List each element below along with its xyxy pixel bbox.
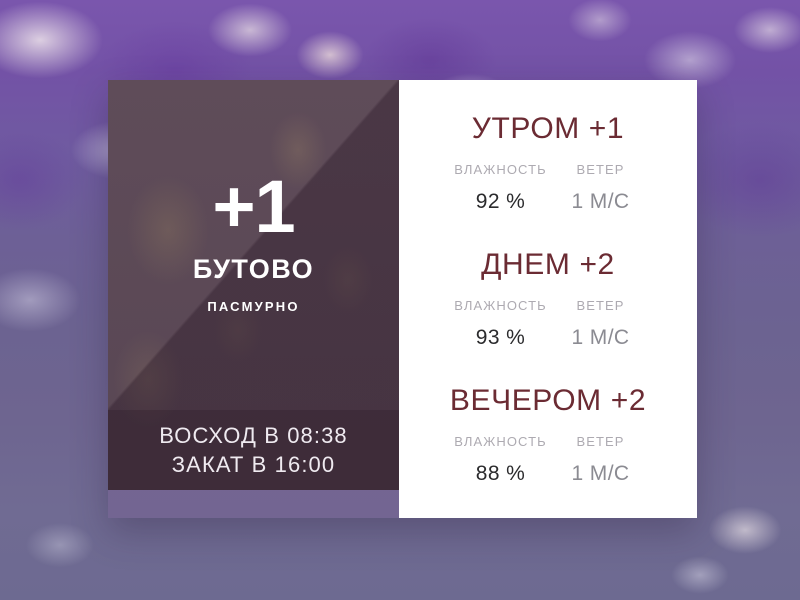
humidity-label: ВЛАЖНОСТЬ [454,434,547,449]
humidity-value: 92 % [476,190,525,213]
sunset-time: ЗАКАТ В 16:00 [172,450,335,479]
forecast-block-day: ДНЕМ +2 ВЛАЖНОСТЬ ВЕТЕР 93 % 1 М/С [399,250,697,350]
forecast-title: ВЕЧЕРОМ +2 [450,386,646,416]
forecast-title: УТРОМ +1 [472,114,624,144]
forecast-label-row: ВЛАЖНОСТЬ ВЕТЕР [399,161,697,179]
weather-card: +1 БУТОВО ПАСМУРНО ВОСХОД В 08:38 ЗАКАТ … [108,80,697,518]
sun-times-section: ВОСХОД В 08:38 ЗАКАТ В 16:00 [108,410,399,490]
wind-value: 1 М/С [571,190,629,213]
wind-value: 1 М/С [571,462,629,485]
forecast-value-row: 92 % 1 М/С [399,190,697,214]
humidity-value: 93 % [476,326,525,349]
weather-condition: ПАСМУРНО [207,299,299,314]
forecast-label-row: ВЛАЖНОСТЬ ВЕТЕР [399,297,697,315]
sunrise-time: ВОСХОД В 08:38 [159,421,348,450]
card-left-panel: +1 БУТОВО ПАСМУРНО ВОСХОД В 08:38 ЗАКАТ … [108,80,399,518]
humidity-label: ВЛАЖНОСТЬ [454,162,547,177]
current-temperature: +1 [212,170,294,244]
wind-label: ВЕТЕР [576,162,624,177]
forecast-block-morning: УТРОМ +1 ВЛАЖНОСТЬ ВЕТЕР 92 % 1 М/С [399,114,697,214]
forecast-title: ДНЕМ +2 [481,250,615,280]
footer-section: ЧЕТВЕРГ, 4 ДЕКАБРЯ VK.RU/CLUB188139243 [108,490,399,518]
wind-label: ВЕТЕР [576,298,624,313]
hero-section: +1 БУТОВО ПАСМУРНО [108,80,399,410]
forecast-value-row: 88 % 1 М/С [399,462,697,486]
wind-value: 1 М/С [571,326,629,349]
humidity-label: ВЛАЖНОСТЬ [454,298,547,313]
forecast-value-row: 93 % 1 М/С [399,326,697,350]
humidity-value: 88 % [476,462,525,485]
forecast-label-row: ВЛАЖНОСТЬ ВЕТЕР [399,433,697,451]
forecast-block-evening: ВЕЧЕРОМ +2 ВЛАЖНОСТЬ ВЕТЕР 88 % 1 М/С [399,386,697,486]
city-name: БУТОВО [193,254,314,285]
card-right-panel: УТРОМ +1 ВЛАЖНОСТЬ ВЕТЕР 92 % 1 М/С ДНЕМ… [399,80,697,518]
wind-label: ВЕТЕР [576,434,624,449]
